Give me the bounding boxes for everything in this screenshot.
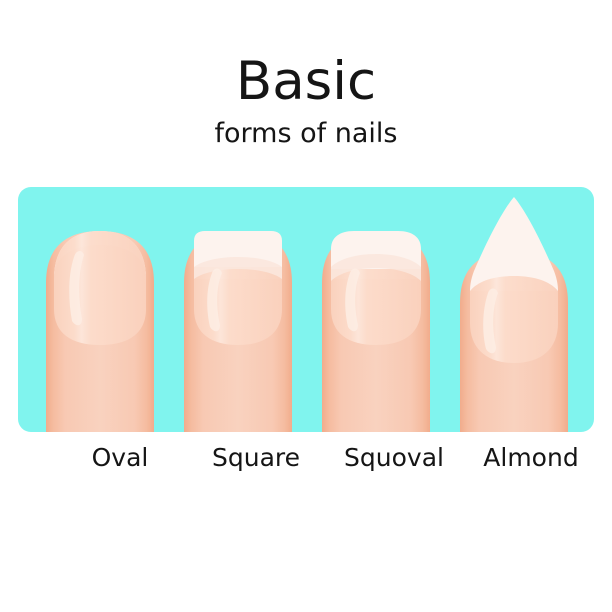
nail-plate-square: [194, 267, 282, 345]
nail-label-square: Square: [176, 442, 336, 473]
nail-plate-squoval: [331, 269, 421, 345]
nail-figure-squoval: [306, 187, 446, 432]
page-title: Basic: [0, 55, 612, 108]
nail-figure-almond: [444, 187, 584, 432]
nail-plate-oval: [54, 231, 146, 345]
nail-label-squoval: Squoval: [314, 442, 474, 473]
nail-labels-row: Oval Square Squoval Almond: [18, 442, 594, 482]
nail-figure-square: [168, 187, 308, 432]
nail-shapes-panel: [18, 187, 594, 432]
nail-label-almond: Almond: [451, 442, 611, 473]
page-subtitle: forms of nails: [0, 118, 612, 150]
nail-plate-almond: [470, 276, 558, 363]
nail-figure-oval: [30, 187, 170, 432]
poster-canvas: Basic forms of nails: [0, 0, 612, 612]
